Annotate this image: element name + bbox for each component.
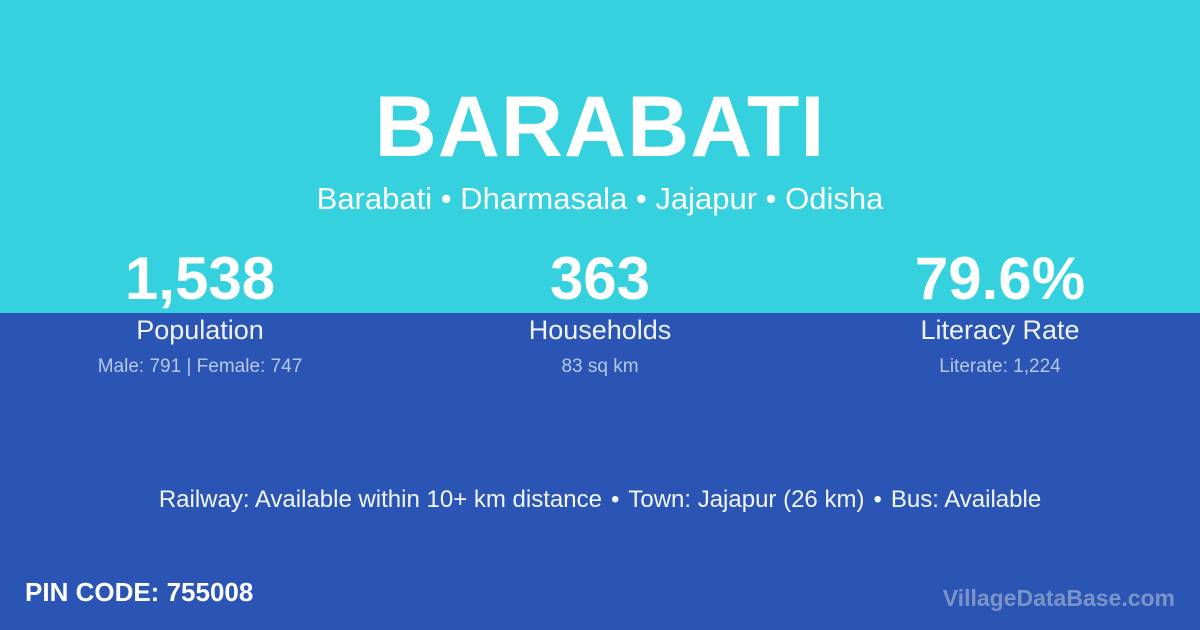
- stat-sublabel: Male: 791 | Female: 747: [0, 355, 400, 379]
- infrastructure-line: Railway: Available within 10+ km distanc…: [0, 484, 1200, 516]
- stat-label: Households: [400, 314, 800, 347]
- stat-sublabel: 83 sq km: [400, 355, 800, 379]
- site-branding: VillageDataBase.com: [943, 584, 1175, 612]
- stat-label: Literacy Rate: [800, 314, 1200, 347]
- railway-info: Railway: Available within 10+ km distanc…: [159, 486, 602, 513]
- pin-code: PIN CODE: 755008: [25, 576, 253, 608]
- stat-value: 1,538: [0, 246, 400, 312]
- stats-row: 1,538 Population Male: 791 | Female: 747…: [0, 246, 1200, 379]
- stat-population: 1,538 Population Male: 791 | Female: 747: [0, 246, 400, 379]
- stat-value: 79.6%: [800, 246, 1200, 312]
- stat-literacy-rate: 79.6% Literacy Rate Literate: 1,224: [800, 246, 1200, 379]
- town-info: Town: Jajapur (26 km): [628, 486, 864, 513]
- stat-households: 363 Households 83 sq km: [400, 246, 800, 379]
- stat-value: 363: [400, 246, 800, 312]
- bullet-separator-icon: •: [602, 484, 628, 516]
- bus-info: Bus: Available: [891, 486, 1041, 513]
- stat-sublabel: Literate: 1,224: [800, 355, 1200, 379]
- stat-label: Population: [0, 314, 400, 347]
- bullet-separator-icon: •: [864, 484, 890, 516]
- village-breadcrumb: Barabati • Dharmasala • Jajapur • Odisha: [0, 180, 1200, 218]
- village-info-card: BARABATI Barabati • Dharmasala • Jajapur…: [0, 0, 1200, 630]
- page-title: BARABATI: [0, 82, 1200, 172]
